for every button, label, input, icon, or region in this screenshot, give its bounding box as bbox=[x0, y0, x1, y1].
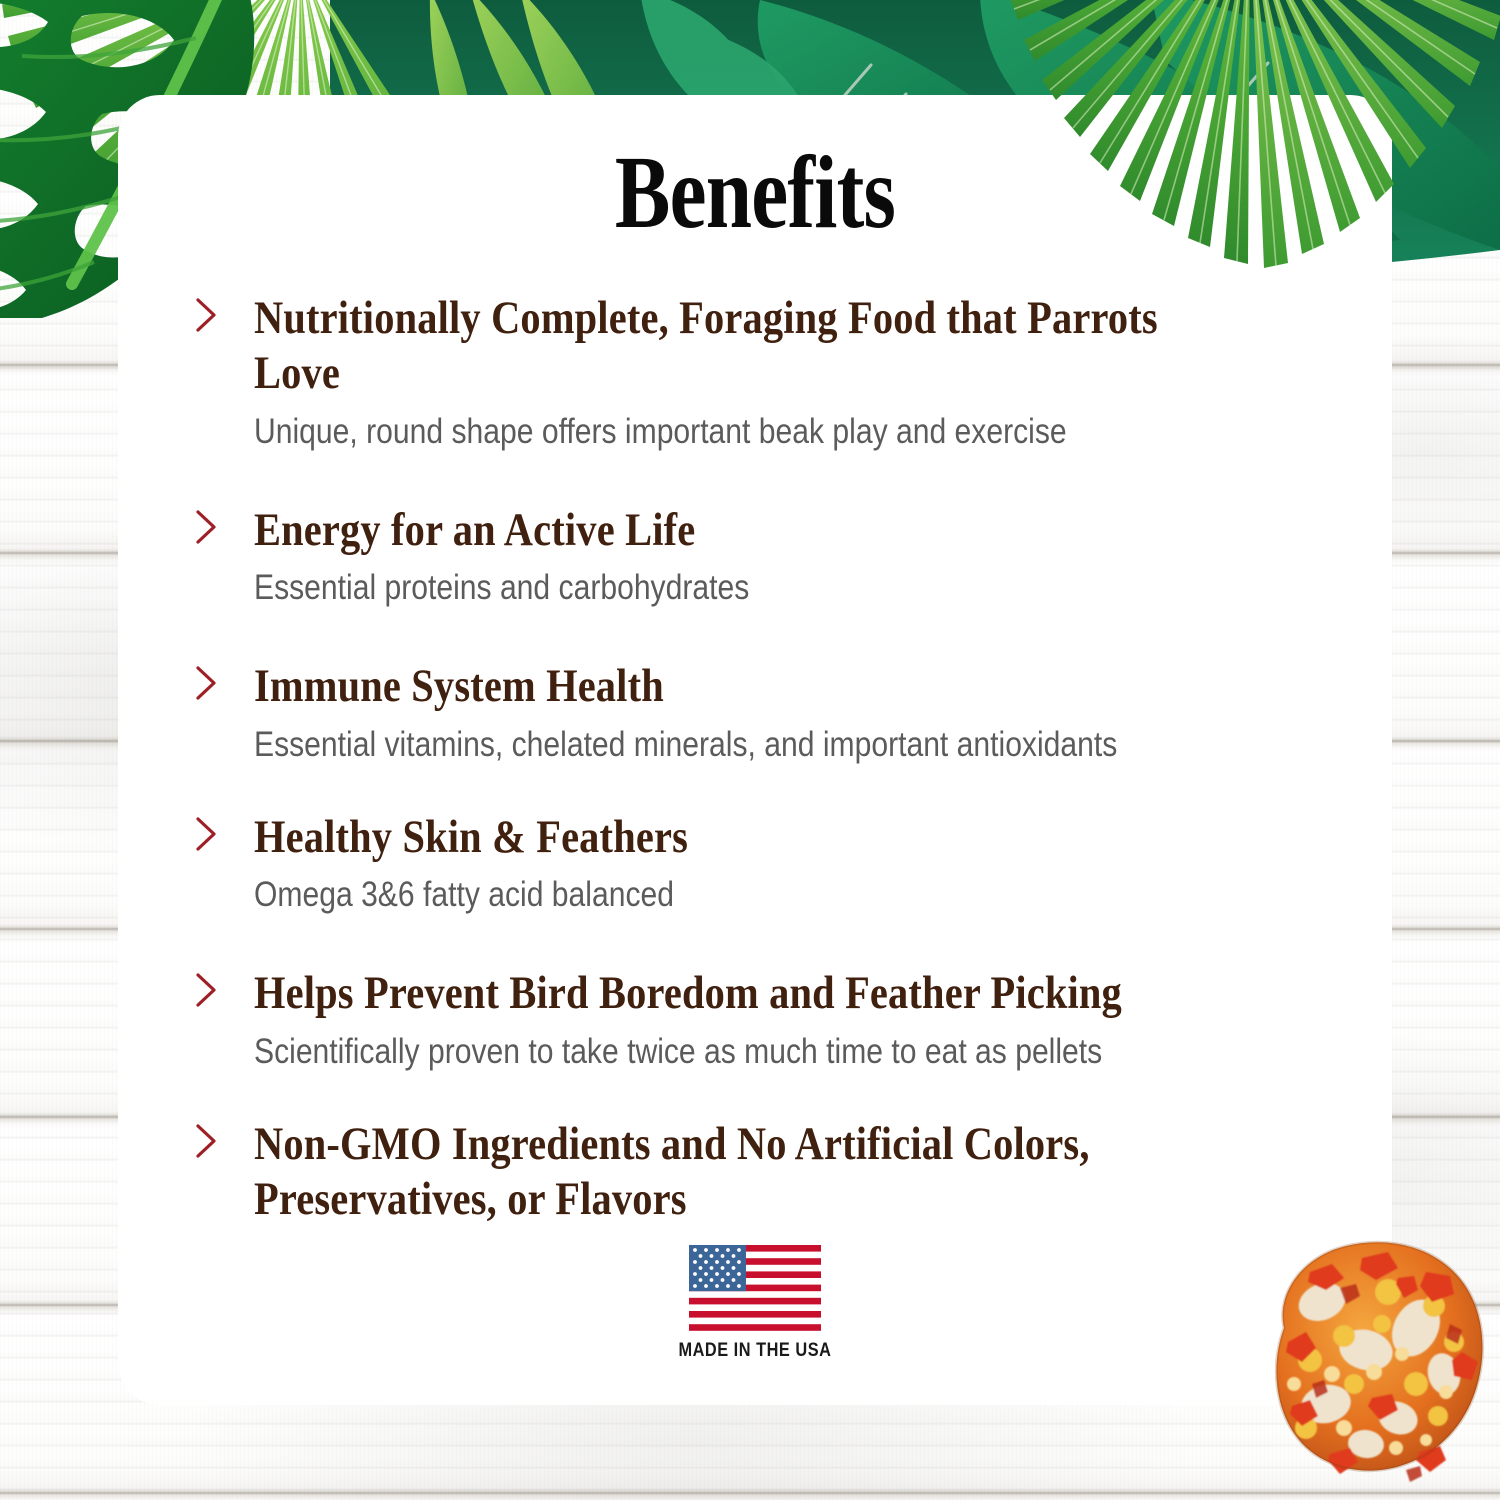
product-benefits-graphic: Benefits Nutritionally Complete, Foragin… bbox=[0, 0, 1500, 1500]
list-item: Helps Prevent Bird Boredom and Feather P… bbox=[186, 966, 1346, 1072]
made-in-usa-badge: MADE IN THE USA bbox=[118, 1245, 1392, 1362]
benefit-subtext: Omega 3&6 fatty acid balanced bbox=[254, 874, 1193, 916]
chevron-right-icon bbox=[192, 664, 220, 702]
chevron-right-icon bbox=[192, 1122, 220, 1160]
usa-flag-icon bbox=[689, 1245, 821, 1331]
list-item: Immune System Health Essential vitamins,… bbox=[186, 659, 1346, 765]
chevron-right-icon bbox=[192, 508, 220, 546]
page-title: Benefits bbox=[245, 141, 1264, 245]
list-item: Healthy Skin & Feathers Omega 3&6 fatty … bbox=[186, 810, 1346, 916]
benefit-headline: Nutritionally Complete, Foraging Food th… bbox=[254, 291, 1193, 402]
benefit-headline: Helps Prevent Bird Boredom and Feather P… bbox=[254, 966, 1193, 1021]
benefit-subtext: Scientifically proven to take twice as m… bbox=[254, 1031, 1193, 1073]
list-item: Non-GMO Ingredients and No Artificial Co… bbox=[186, 1117, 1346, 1228]
made-in-usa-label: MADE IN THE USA bbox=[679, 1340, 832, 1362]
benefit-subtext: Essential vitamins, chelated minerals, a… bbox=[254, 724, 1193, 766]
list-item: Energy for an Active Life Essential prot… bbox=[186, 503, 1346, 609]
benefit-headline: Non-GMO Ingredients and No Artificial Co… bbox=[254, 1117, 1193, 1228]
benefit-subtext: Essential proteins and carbohydrates bbox=[254, 567, 1193, 609]
chevron-right-icon bbox=[192, 296, 220, 334]
benefit-subtext: Unique, round shape offers important bea… bbox=[254, 411, 1193, 453]
benefit-headline: Immune System Health bbox=[254, 659, 1193, 714]
benefits-list: Nutritionally Complete, Foraging Food th… bbox=[186, 291, 1346, 1228]
content-card: Benefits Nutritionally Complete, Foragin… bbox=[118, 95, 1392, 1405]
list-item: Nutritionally Complete, Foraging Food th… bbox=[186, 291, 1346, 453]
benefit-headline: Healthy Skin & Feathers bbox=[254, 810, 1193, 865]
chevron-right-icon bbox=[192, 815, 220, 853]
chevron-right-icon bbox=[192, 971, 220, 1009]
benefit-headline: Energy for an Active Life bbox=[254, 503, 1193, 558]
